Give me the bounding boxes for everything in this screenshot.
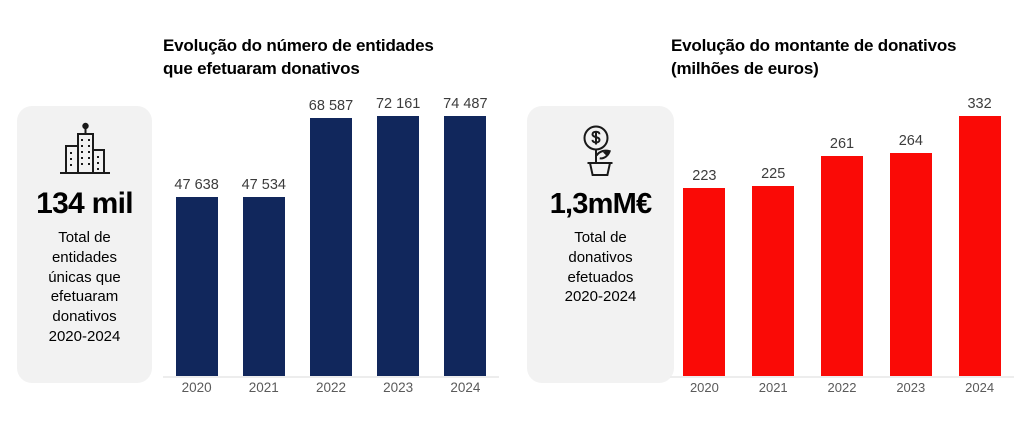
bar-slot: 261 bbox=[808, 96, 877, 376]
x-tick: 2021 bbox=[739, 380, 808, 395]
bar-slot: 68 587 bbox=[297, 96, 364, 376]
bar-value-label: 264 bbox=[899, 133, 923, 149]
bar-chart-entidades: 47 638 47 534 68 587 72 161 74 487 bbox=[163, 96, 499, 402]
x-tick: 2022 bbox=[297, 380, 364, 395]
bar-slot: 47 638 bbox=[163, 96, 230, 376]
bar-value-label: 261 bbox=[830, 136, 854, 152]
bar-value-label: 223 bbox=[692, 168, 716, 184]
bar-slot: 223 bbox=[670, 96, 739, 376]
bar[interactable] bbox=[310, 118, 352, 376]
stat-value-entidades: 134 mil bbox=[36, 189, 133, 219]
bar-value-label: 72 161 bbox=[376, 96, 420, 112]
x-axis-labels-montante: 2020 2021 2022 2023 2024 bbox=[670, 380, 1014, 395]
x-axis-line bbox=[163, 376, 499, 378]
stat-caption-montante: Total de donativos efetuados 2020-2024 bbox=[565, 228, 637, 307]
page-title-montante: Evolução do montante de donativos (milhõ… bbox=[671, 35, 1011, 80]
bar[interactable] bbox=[683, 188, 725, 376]
bar[interactable] bbox=[444, 116, 486, 376]
bar-value-label: 47 638 bbox=[174, 177, 218, 193]
bar[interactable] bbox=[821, 156, 863, 376]
x-axis-labels-entidades: 2020 2021 2022 2023 2024 bbox=[163, 380, 499, 395]
bar-slot: 72 161 bbox=[365, 96, 432, 376]
stat-card-entidades: 134 mil Total de entidades únicas que ef… bbox=[17, 106, 152, 383]
x-tick: 2023 bbox=[876, 380, 945, 395]
panel-entidades: Evolução do número de entidades que efet… bbox=[0, 0, 512, 428]
x-axis-line bbox=[670, 376, 1014, 378]
stat-card-montante: 1,3mM€ Total de donativos efetuados 2020… bbox=[527, 106, 674, 383]
stat-value-montante: 1,3mM€ bbox=[550, 190, 652, 219]
bar-value-label: 225 bbox=[761, 166, 785, 182]
bar-slot: 225 bbox=[739, 96, 808, 376]
bar-slot: 74 487 bbox=[432, 96, 499, 376]
bar-slot: 332 bbox=[945, 96, 1014, 376]
stat-caption-entidades: Total de entidades únicas que efetuaram … bbox=[48, 228, 121, 347]
bar[interactable] bbox=[959, 116, 1001, 376]
x-tick: 2024 bbox=[432, 380, 499, 395]
money-plant-icon bbox=[570, 120, 632, 186]
buildings-icon bbox=[54, 119, 116, 185]
bar[interactable] bbox=[243, 197, 285, 376]
x-tick: 2022 bbox=[808, 380, 877, 395]
bar-value-label: 68 587 bbox=[309, 98, 353, 114]
panel-montante: Evolução do montante de donativos (milhõ… bbox=[512, 0, 1024, 428]
bars-montante: 223 225 261 264 332 bbox=[670, 96, 1014, 376]
bar-value-label: 332 bbox=[967, 96, 991, 112]
page-title-entidades: Evolução do número de entidades que efet… bbox=[163, 35, 493, 80]
plot-area-entidades: 47 638 47 534 68 587 72 161 74 487 bbox=[163, 96, 499, 378]
x-tick: 2024 bbox=[945, 380, 1014, 395]
x-tick: 2021 bbox=[230, 380, 297, 395]
x-tick: 2023 bbox=[365, 380, 432, 395]
bar-slot: 264 bbox=[876, 96, 945, 376]
bar-chart-montante: 223 225 261 264 332 bbox=[670, 96, 1014, 402]
x-tick: 2020 bbox=[163, 380, 230, 395]
bar-value-label: 47 534 bbox=[242, 177, 286, 193]
bar-value-label: 74 487 bbox=[443, 96, 487, 112]
bars-entidades: 47 638 47 534 68 587 72 161 74 487 bbox=[163, 96, 499, 376]
bar-slot: 47 534 bbox=[230, 96, 297, 376]
bar[interactable] bbox=[176, 197, 218, 376]
bar[interactable] bbox=[752, 186, 794, 376]
x-tick: 2020 bbox=[670, 380, 739, 395]
bar[interactable] bbox=[890, 153, 932, 376]
plot-area-montante: 223 225 261 264 332 bbox=[670, 96, 1014, 378]
bar[interactable] bbox=[377, 116, 419, 376]
